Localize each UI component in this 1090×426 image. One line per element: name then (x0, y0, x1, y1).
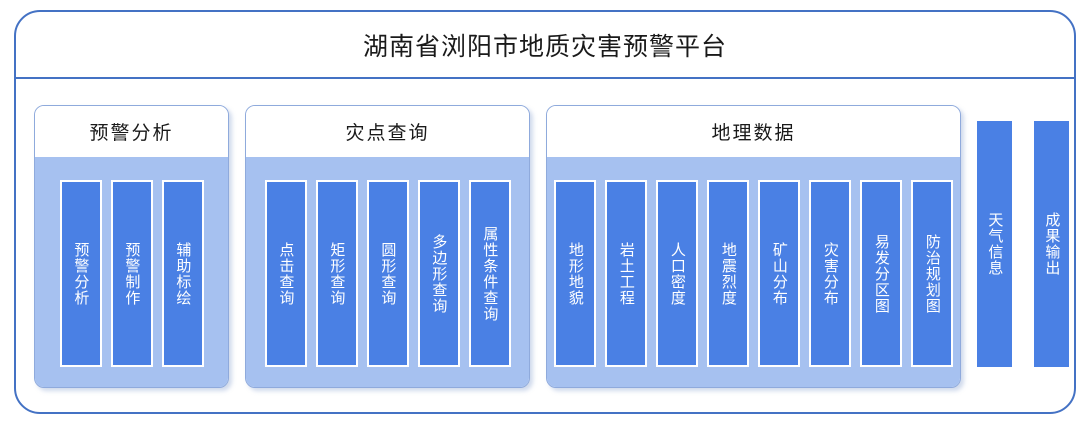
module-item-warning-production[interactable]: 预警制作 (111, 180, 153, 367)
panel-geographic-data[interactable]: 地理数据 地形地貌 岩土工程 人口密度 地震烈度 矿山分布 灾害分布 易发分区图… (546, 105, 961, 388)
module-item-attribute-condition-query[interactable]: 属性条件查询 (469, 180, 511, 367)
module-item-prevention-planning-map[interactable]: 防治规划图 (911, 180, 953, 367)
module-item-geotechnical-engineering[interactable]: 岩土工程 (605, 180, 647, 367)
module-item-warning-analysis[interactable]: 预警分析 (60, 180, 102, 367)
panel-warning-analysis[interactable]: 预警分析 预警分析 预警制作 辅助标绘 (34, 105, 229, 388)
module-item-population-density[interactable]: 人口密度 (656, 180, 698, 367)
module-item-mine-distribution[interactable]: 矿山分布 (758, 180, 800, 367)
module-item-susceptibility-zoning-map[interactable]: 易发分区图 (860, 180, 902, 367)
standalone-module-group: 天气信息 成果输出 (977, 105, 1069, 388)
panel-title-warning-analysis: 预警分析 (35, 106, 228, 157)
panel-title-disaster-point-query: 灾点查询 (246, 106, 529, 157)
module-item-disaster-distribution[interactable]: 灾害分布 (809, 180, 851, 367)
panel-title-geographic-data: 地理数据 (547, 106, 960, 157)
module-item-polygon-query[interactable]: 多边形查询 (418, 180, 460, 367)
module-item-weather-information[interactable]: 天气信息 (977, 121, 1012, 367)
panel-body-warning-analysis: 预警分析 预警制作 辅助标绘 (35, 157, 228, 387)
module-item-assist-plotting[interactable]: 辅助标绘 (162, 180, 204, 367)
module-item-click-query[interactable]: 点击查询 (265, 180, 307, 367)
module-item-rectangle-query[interactable]: 矩形查询 (316, 180, 358, 367)
module-item-circle-query[interactable]: 圆形查询 (367, 180, 409, 367)
module-item-terrain-landform[interactable]: 地形地貌 (554, 180, 596, 367)
panel-body-disaster-point-query: 点击查询 矩形查询 圆形查询 多边形查询 属性条件查询 (246, 157, 529, 387)
module-item-result-output[interactable]: 成果输出 (1034, 121, 1069, 367)
module-board: 预警分析 预警分析 预警制作 辅助标绘 灾点查询 点击查询 矩形查询 圆形查询 … (16, 79, 1074, 412)
platform-frame: 湖南省浏阳市地质灾害预警平台 预警分析 预警分析 预警制作 辅助标绘 灾点查询 … (14, 10, 1076, 414)
page-title: 湖南省浏阳市地质灾害预警平台 (16, 12, 1074, 77)
panel-disaster-point-query[interactable]: 灾点查询 点击查询 矩形查询 圆形查询 多边形查询 属性条件查询 (245, 105, 530, 388)
module-item-seismic-intensity[interactable]: 地震烈度 (707, 180, 749, 367)
panel-body-geographic-data: 地形地貌 岩土工程 人口密度 地震烈度 矿山分布 灾害分布 易发分区图 防治规划… (547, 157, 960, 387)
